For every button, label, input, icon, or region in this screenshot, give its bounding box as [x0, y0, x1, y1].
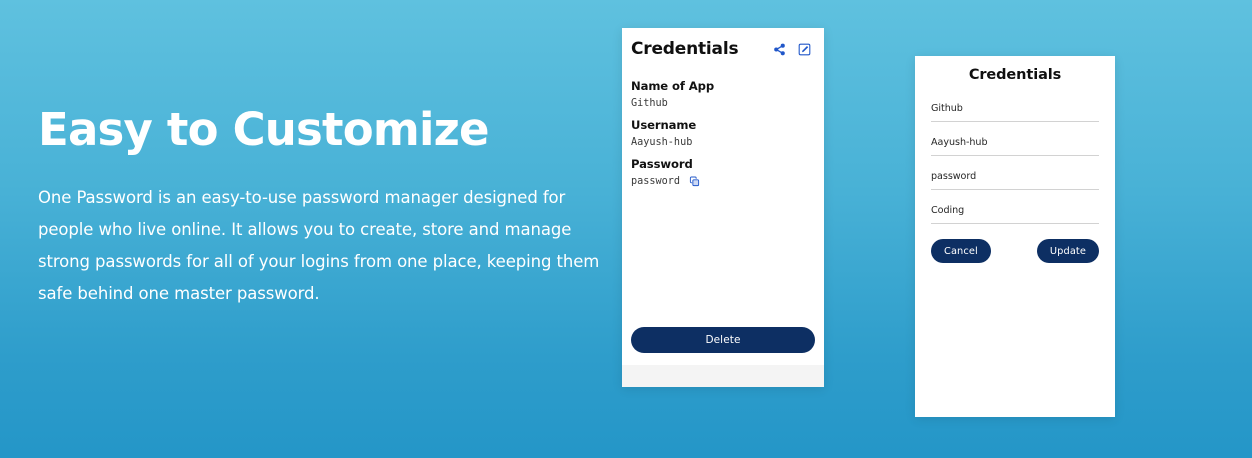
- edit-icon[interactable]: [798, 43, 811, 56]
- field-app-name: Name of App Github: [631, 70, 815, 109]
- card-bottom-strip: [622, 365, 824, 387]
- detail-card-body: Credentials: [622, 28, 824, 327]
- category-row: [931, 205, 1099, 224]
- hero-copy: Easy to Customize One Password is an eas…: [38, 106, 608, 310]
- delete-button[interactable]: Delete: [631, 327, 815, 353]
- field-value: Github: [631, 98, 815, 109]
- field-value-text: password: [631, 176, 680, 187]
- detail-card-title: Credentials: [631, 39, 738, 59]
- update-button[interactable]: Update: [1037, 239, 1099, 263]
- app-name-input[interactable]: [931, 103, 1099, 122]
- field-value-text: Github: [631, 98, 668, 109]
- field-value: password: [631, 176, 815, 187]
- hero-description: One Password is an easy-to-use password …: [38, 182, 604, 311]
- field-username: Username Aayush-hub: [631, 109, 815, 148]
- field-value: Aayush-hub: [631, 137, 815, 148]
- credential-detail-card: Credentials: [622, 28, 824, 387]
- page-title: Easy to Customize: [38, 106, 608, 155]
- detail-card-actions: [773, 43, 815, 56]
- field-label: Password: [631, 157, 815, 171]
- cancel-button[interactable]: Cancel: [931, 239, 991, 263]
- field-label: Username: [631, 118, 815, 132]
- field-value-text: Aayush-hub: [631, 137, 692, 148]
- password-input[interactable]: [931, 171, 1099, 190]
- share-icon[interactable]: [773, 43, 786, 56]
- username-row: [931, 137, 1099, 156]
- app-name-row: [931, 103, 1099, 122]
- detail-card-header: Credentials: [631, 39, 815, 59]
- field-password: Password password: [631, 148, 815, 187]
- credential-edit-card: Credentials Cancel Update: [915, 56, 1115, 417]
- category-input[interactable]: [931, 205, 1099, 224]
- copy-icon[interactable]: [689, 176, 700, 187]
- password-row: [931, 171, 1099, 190]
- detail-card-footer: Delete: [622, 327, 824, 365]
- username-input[interactable]: [931, 137, 1099, 156]
- edit-card-title: Credentials: [931, 67, 1099, 83]
- edit-card-buttons: Cancel Update: [931, 239, 1099, 263]
- field-label: Name of App: [631, 79, 815, 93]
